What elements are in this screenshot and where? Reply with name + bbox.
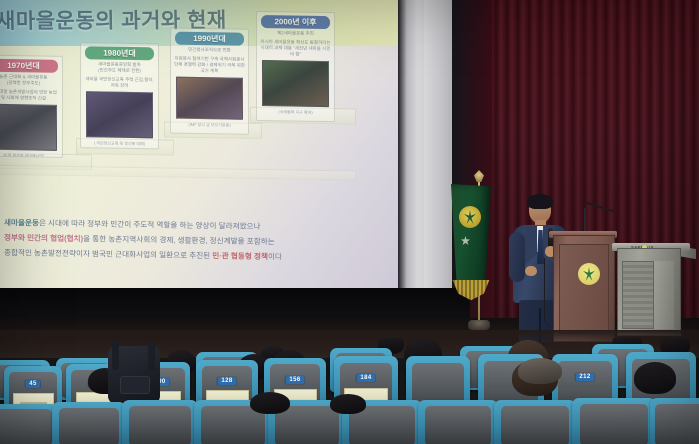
card-line-1: 제2새마을운동 추진 xyxy=(257,30,334,37)
card-era-label: 1970년대 xyxy=(0,59,58,73)
slide-card-1980s: 1980년대 새마을운동중앙회 발족 (민간주도 체제로 전환) 새마을 국민정… xyxy=(80,42,159,149)
card-detail: 자원봉사 참여기반 구축 국제사회봉사단체 경쟁력 강화 / 경제위기 극복 위… xyxy=(171,56,248,75)
card-photo xyxy=(86,91,153,138)
card-caption: [마을 환경을 새마을사업] xyxy=(0,152,62,158)
card-caption: (국제협력 지구 확대) xyxy=(257,108,334,119)
audience-head xyxy=(330,394,366,414)
seat[interactable] xyxy=(418,400,498,444)
audience-head-grey xyxy=(518,358,562,384)
card-era-label: 2000년 이후 xyxy=(261,15,330,29)
card-detail: 새마을 국민정신교육 주력 근검,절약,저축 장려 xyxy=(81,76,158,89)
paragraph-keyword-2: 정부와 민간의 협업(협치) xyxy=(4,233,83,243)
console-center-panel xyxy=(654,261,674,329)
paragraph-text-2: 을 통한 농촌지역사회의 경제, 생활환경, 정신계발을 포함하는 xyxy=(83,234,275,246)
card-line-2: (강력한 정부주도) xyxy=(0,80,62,87)
seat-number: 212 xyxy=(575,373,594,381)
paragraph-text-3a: 종합적인 농촌발전전략이자 범국민 근대화사업의 일환으로 추진된 xyxy=(4,248,212,260)
speaker-arm-left xyxy=(509,232,525,282)
card-photo xyxy=(0,104,57,151)
card-line-1: 민간봉사조직으로 전환 xyxy=(171,47,248,54)
card-photo xyxy=(262,60,329,107)
saemaul-sprout-emblem-icon xyxy=(459,206,481,228)
seat[interactable] xyxy=(0,404,58,444)
seat[interactable] xyxy=(572,398,656,444)
card-era-label: 1980년대 xyxy=(85,46,154,60)
audience-seating: 45 72 100 128 156 184 xyxy=(0,338,699,444)
lectern xyxy=(553,235,615,342)
card-era-label: 1990년대 xyxy=(175,32,244,46)
seat[interactable] xyxy=(650,398,699,444)
slide-body-paragraph: 새마을운동은 시대에 따라 정부와 민간이 주도적 역할을 하는 양상이 달라져… xyxy=(4,215,372,266)
paragraph-keyword-3: 민·관 협동형 정책 xyxy=(212,251,268,261)
flag-stand-base xyxy=(468,320,490,330)
seat-number: 128 xyxy=(217,377,236,385)
seat-number: 156 xyxy=(285,376,304,384)
auditorium-photo: 새마을운동의 과거와 현재 1970년대 농촌 근대화 & 새마을운동 (강력한… xyxy=(0,0,699,444)
card-caption: (IMF 당시 금 모으기운동) xyxy=(171,121,248,132)
audience-head xyxy=(634,362,676,394)
console-vent-panel xyxy=(622,261,654,329)
speaker-hand-left xyxy=(525,266,537,276)
projection-screen: 새마을운동의 과거와 현재 1970년대 농촌 근대화 & 새마을운동 (강력한… xyxy=(0,0,398,296)
paragraph-text-1: 은 시대에 따라 정부와 민간이 주도적 역할을 하는 양상이 달라져왔으나 xyxy=(39,219,261,231)
card-detail: 아시아 새마을운동 확산도 동참하라는 시대적 과제 대응 "새천년 새마을 시… xyxy=(257,39,334,58)
lectern-front-panel xyxy=(559,244,609,334)
audience-head xyxy=(250,392,290,414)
seat-number: 184 xyxy=(356,374,375,382)
av-control-console[interactable] xyxy=(617,248,681,336)
backpack-on-seat xyxy=(108,346,160,404)
seat[interactable] xyxy=(122,400,198,444)
seat[interactable] xyxy=(52,402,126,444)
seat[interactable] xyxy=(494,400,576,444)
slide-card-1970s: 1970년대 농촌 근대화 & 새마을운동 (강력한 정부주도) 60년대말 농… xyxy=(0,55,63,158)
slide-card-1990s: 1990년대 민간봉사조직으로 전환 자원봉사 참여기반 구축 국제사회봉사단체… xyxy=(170,28,249,135)
card-photo xyxy=(176,77,243,120)
card-detail: 60년대말 농촌개발사업의 연장 농업 및 사회에 영향조직 신설 xyxy=(0,89,62,102)
paragraph-keyword-1: 새마을운동 xyxy=(4,218,39,228)
paragraph-text-3c: 이다 xyxy=(268,252,282,261)
card-caption: ( 국민정신교육 및 정신화 대회) xyxy=(81,139,158,149)
saemaul-sprout-emblem-icon xyxy=(578,263,600,285)
seat-number: 45 xyxy=(25,380,40,388)
speaker-hair xyxy=(527,194,553,209)
slide-card-2000s: 2000년 이후 제2새마을운동 추진 아시아 새마을운동 확산도 동참하라는 … xyxy=(256,11,335,122)
mic-cable xyxy=(544,258,555,328)
card-line-2: (민간주도 체제로 전환) xyxy=(81,67,158,74)
